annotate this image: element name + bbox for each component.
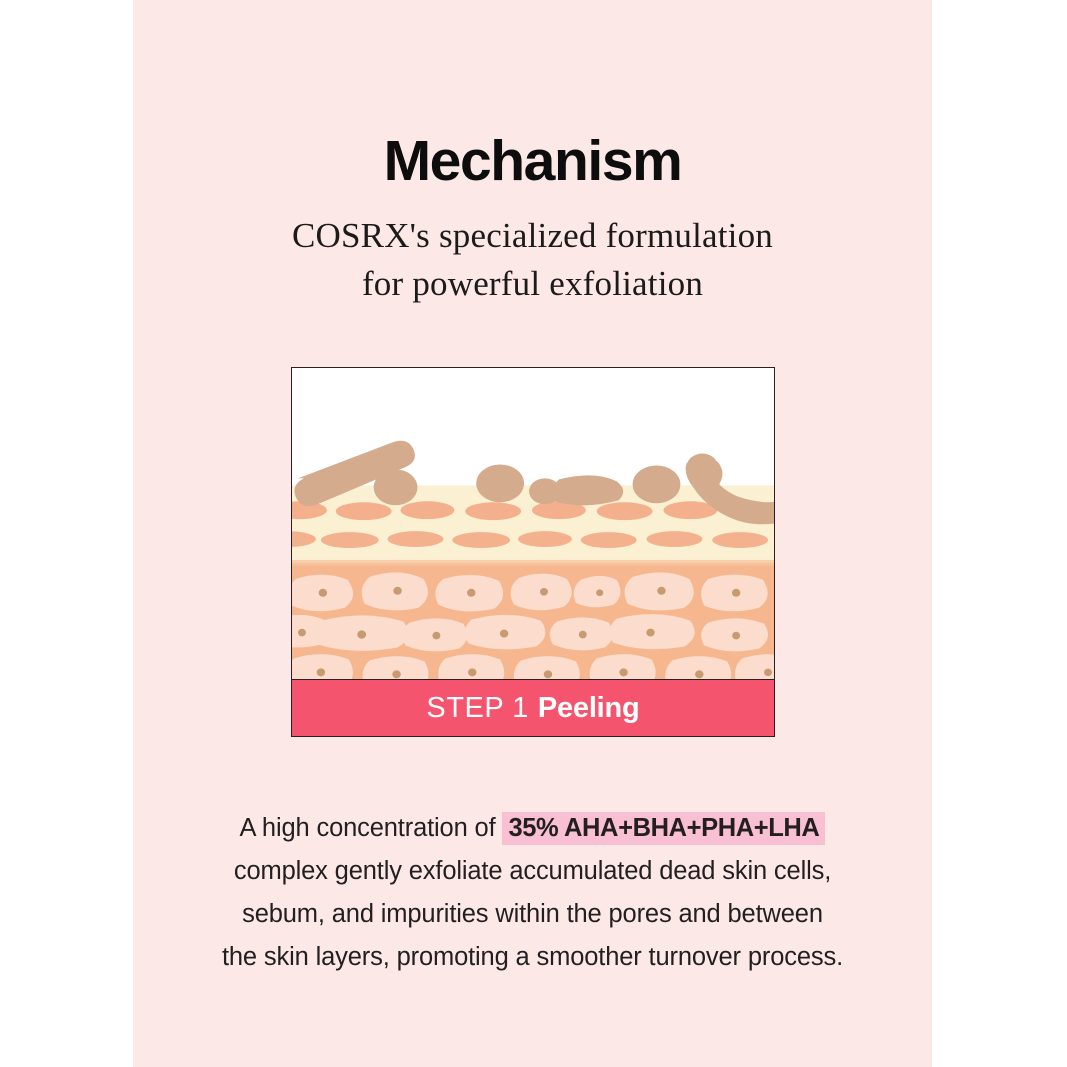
body-line-3: sebum, and impurities within the pores a… bbox=[133, 893, 932, 936]
body-line-4: the skin layers, promoting a smoother tu… bbox=[133, 936, 932, 979]
subtitle-line-2: for powerful exfoliation bbox=[133, 260, 932, 308]
body-paragraph: A high concentration of 35% AHA+BHA+PHA+… bbox=[133, 807, 932, 979]
body-line-2: complex gently exfoliate accumulated dea… bbox=[133, 850, 932, 893]
step-banner: STEP 1 Peeling bbox=[292, 679, 774, 736]
acid-complex-highlight: 35% AHA+BHA+PHA+LHA bbox=[502, 812, 825, 845]
subtitle-line-1: COSRX's specialized formulation bbox=[133, 212, 932, 260]
step-number-label: STEP 1 bbox=[426, 692, 528, 725]
subtitle: COSRX's specialized formulation for powe… bbox=[133, 212, 932, 308]
step-name-label: Peeling bbox=[538, 692, 640, 725]
body-line-1-pre: A high concentration of bbox=[240, 814, 503, 842]
infographic-page: Mechanism COSRX's specialized formulatio… bbox=[0, 0, 1067, 1067]
body-line-1: A high concentration of 35% AHA+BHA+PHA+… bbox=[133, 807, 932, 850]
page-title: Mechanism bbox=[133, 132, 932, 192]
skin-cross-section-diagram: STEP 1 Peeling bbox=[291, 367, 775, 737]
pink-panel: Mechanism COSRX's specialized formulatio… bbox=[133, 0, 932, 1067]
